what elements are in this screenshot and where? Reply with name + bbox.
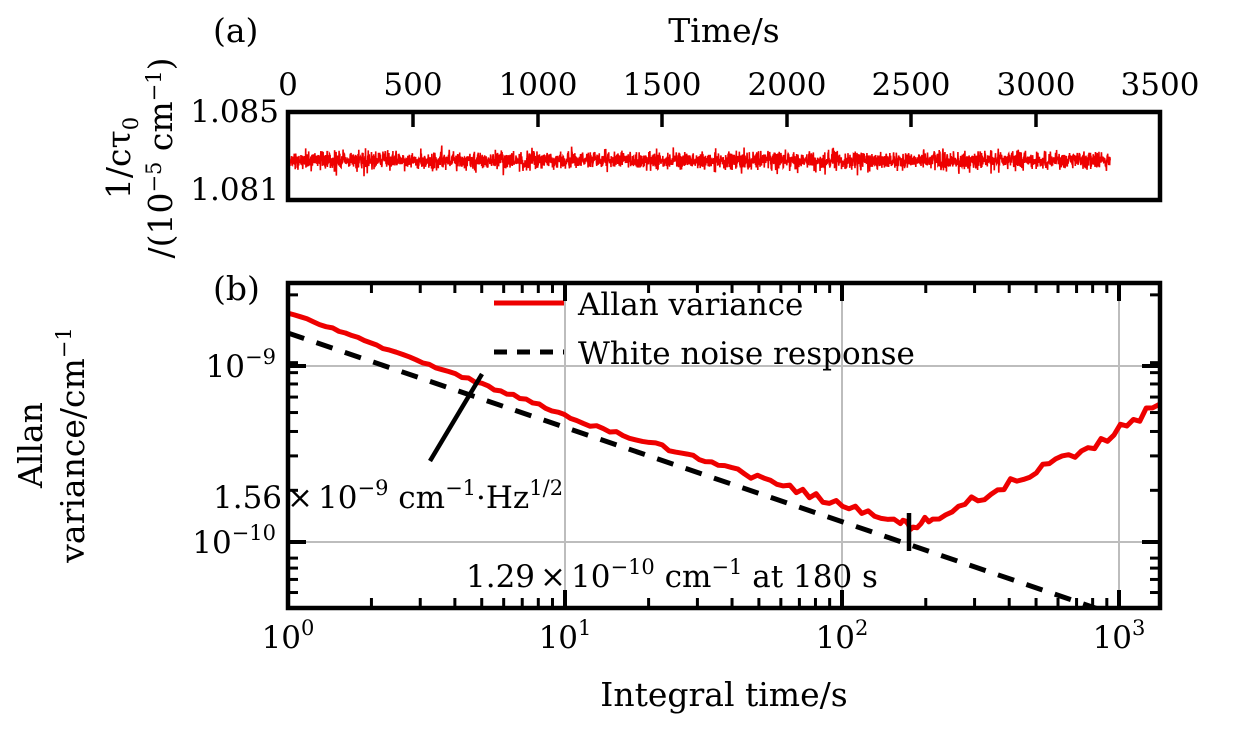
y-tick-label: 1.085	[190, 94, 279, 130]
x-tick-label: 2000	[748, 67, 827, 103]
panel-a-plot-frame	[288, 112, 1160, 200]
x-tick-label: 102	[816, 616, 869, 656]
panel-a: (a) Time/s 0 500 1000 1500 2000 2500 300…	[99, 11, 1199, 259]
panel-b-y-axis-label: Allan variance/cm−1	[11, 327, 92, 563]
panel-a-label: (a)	[213, 11, 258, 50]
anno1-unit-pre: cm	[388, 480, 445, 516]
y-label-line2-pre: variance/cm	[53, 358, 92, 563]
panel-a-y-axis-label: 1/cτ0 /(10−5 cm−1)	[99, 57, 180, 258]
x-tick-label: 2500	[872, 67, 951, 103]
legend-label-white-noise-response: White noise response	[578, 336, 915, 372]
x-tick-label: 1500	[623, 67, 702, 103]
anno2-base: 10	[571, 559, 610, 595]
anno1-unit-exp: −1	[445, 476, 476, 500]
y-label-line2-sup: −1	[52, 327, 76, 358]
x-tick-label: 3000	[997, 67, 1076, 103]
panel-a-x-tick-labels: 0 500 1000 1500 2000 2500 3000 3500	[278, 67, 1199, 103]
y-label-line2-pre: /(10	[141, 193, 180, 259]
annotation-1-text: 1.56×10−9 cm−1·Hz1/2	[213, 476, 563, 516]
y-label-line2-mid: cm	[141, 101, 180, 161]
svg-text:/(10−5 cm−1): /(10−5 cm−1)	[141, 57, 180, 258]
x-tick-label: 500	[383, 67, 442, 103]
panel-a-noise-trace	[288, 146, 1110, 177]
annotation-2-text: 1.29×10−10 cm−1 at 180 s	[466, 555, 878, 595]
anno2-pre: 1.29	[466, 559, 535, 595]
anno1-exp: −9	[357, 476, 388, 500]
x-tick-label: 1000	[499, 67, 578, 103]
anno1-pre: 1.56	[213, 480, 282, 516]
figure-root: (a) Time/s 0 500 1000 1500 2000 2500 300…	[0, 0, 1260, 732]
anno2-times: ×	[540, 559, 566, 595]
anno1-base: 10	[318, 480, 357, 516]
figure-svg: (a) Time/s 0 500 1000 1500 2000 2500 300…	[0, 0, 1260, 732]
y-label-line1: 1/cτ	[99, 130, 138, 199]
y-tick-label: 1.081	[190, 172, 279, 208]
anno2-exp: −10	[610, 555, 654, 579]
legend-label-allan-variance: Allan variance	[577, 287, 803, 323]
x-tick-label: 100	[262, 616, 315, 656]
panel-a-top-axis-title: Time/s	[668, 11, 779, 50]
anno1-unit-mid: ·Hz	[476, 480, 529, 516]
y-label-line2-sup2: −1	[142, 70, 166, 101]
x-tick-label: 103	[1093, 616, 1146, 656]
y-label-line1: Allan	[11, 402, 50, 489]
panel-b: (b) 1.56×10−9 cm−1·Hz1/2 1.29×10−10 cm−1…	[11, 269, 1160, 714]
x-tick-label: 3500	[1121, 67, 1200, 103]
panel-b-x-tick-labels: 100 101 102 103	[262, 616, 1146, 656]
anno2-unit-pre: cm	[655, 559, 712, 595]
anno2-post: at 180 s	[742, 559, 878, 595]
anno1-unit-exp2: 1/2	[529, 476, 563, 500]
svg-text:1/cτ0: 1/cτ0	[99, 117, 143, 199]
y-tick-label: 10−9	[206, 345, 276, 385]
x-tick-label: 0	[278, 67, 298, 103]
svg-text:variance/cm−1: variance/cm−1	[52, 327, 92, 563]
panel-b-y-tick-labels: 10−9 10−10	[192, 345, 276, 561]
annotation-1-leader-line	[430, 374, 482, 461]
legend: Allan variance White noise response	[494, 287, 915, 372]
y-label-line2-post: )	[141, 57, 180, 70]
panel-b-label: (b)	[213, 269, 260, 308]
y-label-line2-sup: −5	[142, 162, 166, 193]
y-tick-label: 10−10	[192, 521, 276, 561]
panel-b-x-axis-label: Integral time/s	[600, 675, 847, 714]
y-label-line1-sub: 0	[119, 117, 143, 130]
anno2-unit-exp: −1	[711, 555, 742, 579]
x-tick-label: 101	[539, 616, 592, 656]
anno1-times: ×	[287, 480, 313, 516]
